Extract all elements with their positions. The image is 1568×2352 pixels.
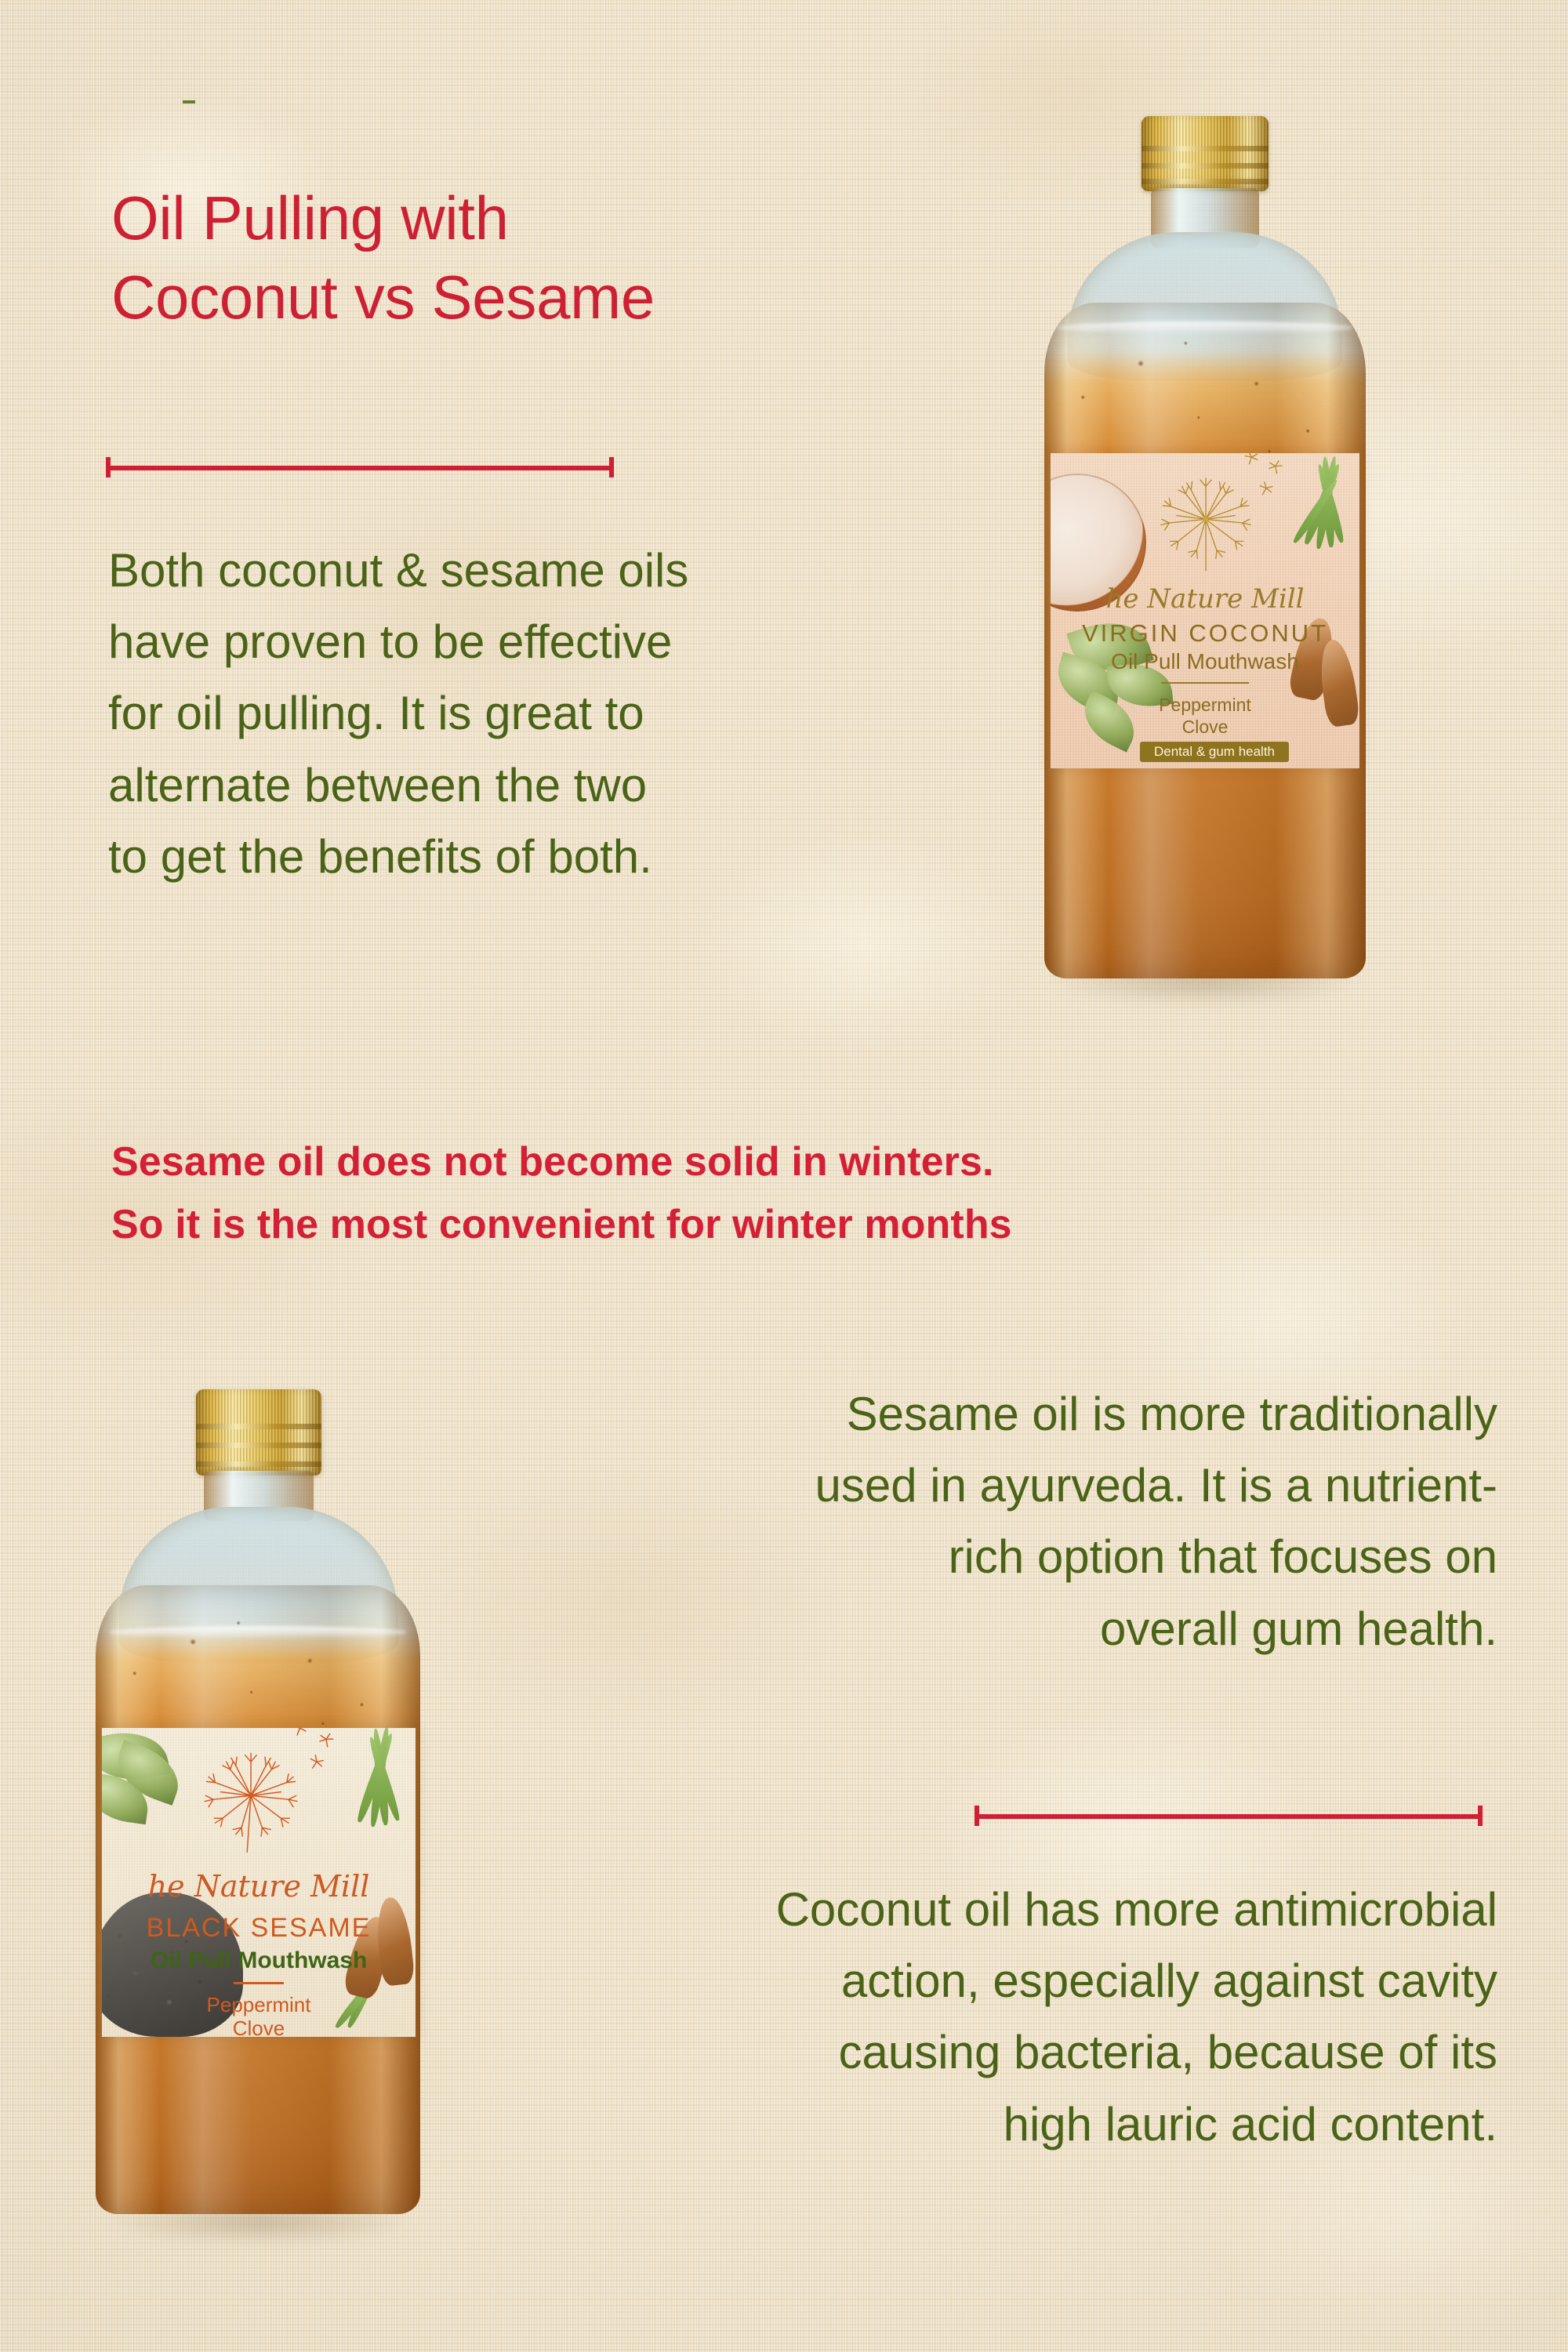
coconut-label: he Nature Mill VIRGIN COCONUT Oil Pull M…	[1051, 453, 1359, 768]
sesame-label-flavour-2: Clove	[102, 2016, 416, 2037]
divider-top	[106, 457, 614, 477]
page-title: Oil Pulling with Coconut vs Sesame	[111, 179, 974, 338]
cap-ring-1	[196, 1424, 321, 1429]
cap-ring-1	[1142, 146, 1269, 151]
cap-ring-2	[196, 1443, 321, 1448]
sesame-label-brand: he Nature Mill	[102, 1869, 416, 1904]
coconut-label-hairline	[1161, 682, 1249, 684]
sesame-label-subtitle: Oil Pull Mouthwash	[102, 1947, 416, 1974]
intro-paragraph: Both coconut & sesame oils have proven t…	[108, 535, 971, 892]
divider-cap-right	[609, 457, 614, 477]
coconut-label-flavour-2: Clove	[1051, 717, 1359, 738]
divider-bar	[106, 466, 614, 470]
coconut-paragraph: Coconut oil has more antimicrobial actio…	[470, 1874, 1497, 2160]
sesame-paragraph: Sesame oil is more traditionally used in…	[517, 1378, 1497, 1664]
bottle-cap	[196, 1389, 321, 1475]
coconut-label-subtitle: Oil Pull Mouthwash	[1051, 649, 1359, 674]
sesame-label: he Nature Mill BLACK SESAME Oil Pull Mou…	[102, 1728, 416, 2037]
coconut-label-brand: he Nature Mill	[1051, 583, 1359, 615]
coconut-label-badge: Dental & gum health	[1140, 742, 1289, 762]
divider-mid	[975, 1806, 1483, 1826]
dandelion-icon	[194, 1737, 307, 1850]
stray-dash-mark	[183, 100, 195, 103]
sesame-label-variant: BLACK SESAME	[102, 1913, 416, 1944]
sesame-label-flavour-1: Peppermint	[102, 1993, 416, 2017]
divider-cap-right	[1478, 1806, 1483, 1826]
poster-canvas: Oil Pulling with Coconut vs Sesame Both …	[0, 0, 1568, 2352]
cap-ring-3	[196, 1461, 321, 1467]
cap-ring-3	[1142, 179, 1269, 184]
virgin-coconut-bottle: he Nature Mill VIRGIN COCONUT Oil Pull M…	[1040, 116, 1369, 1002]
bottle-cap	[1142, 116, 1269, 191]
sesame-label-hairline	[234, 1982, 284, 1984]
black-sesame-bottle: he Nature Mill BLACK SESAME Oil Pull Mou…	[85, 1389, 434, 2244]
divider-bar	[975, 1814, 1483, 1819]
dandelion-icon	[1151, 463, 1261, 572]
coconut-label-flavour-1: Peppermint	[1051, 695, 1359, 716]
coconut-label-variant: VIRGIN COCONUT	[1051, 619, 1359, 648]
highlight-statement: Sesame oil does not become solid in wint…	[111, 1131, 1491, 1256]
cap-ring-2	[1142, 163, 1269, 169]
